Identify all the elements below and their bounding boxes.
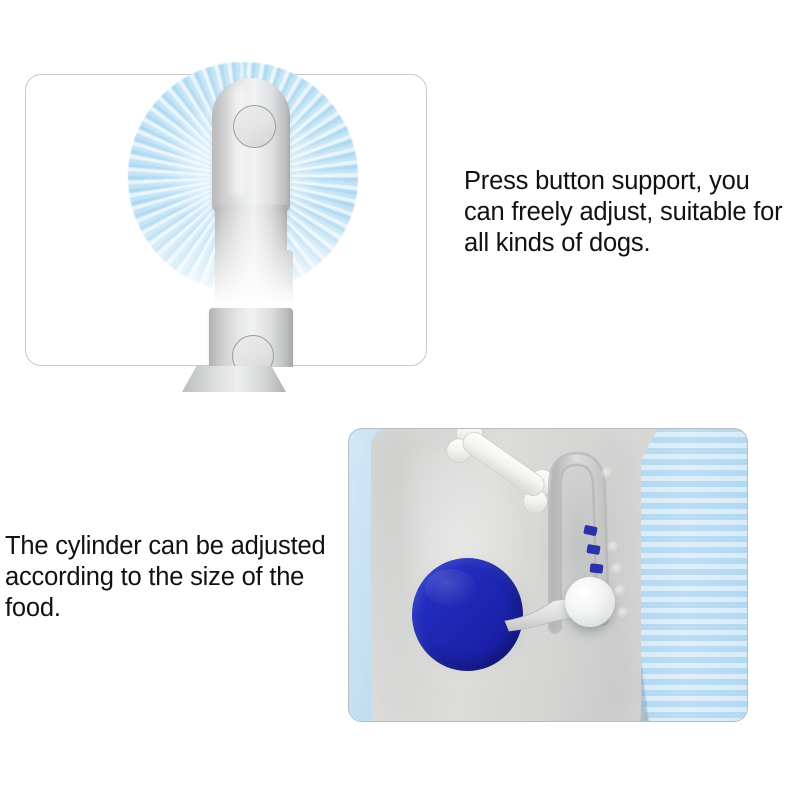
caption-press-button-support: Press button support, you can freely adj… — [464, 166, 794, 259]
housing-dimple — [617, 607, 630, 620]
lever-knob-icon — [565, 577, 615, 627]
support-arm-overflow — [182, 366, 286, 392]
panel-two-image — [348, 428, 748, 722]
housing-dimple — [614, 585, 627, 598]
slot-tick-2 — [586, 544, 600, 555]
slot-tick-3 — [590, 563, 604, 573]
caption-cylinder-adjustable: The cylinder can be adjusted according t… — [5, 531, 345, 624]
panel-one-frame — [25, 74, 427, 366]
housing-dimple — [611, 563, 624, 576]
housing-dimple — [601, 467, 614, 480]
disc-gloss — [425, 569, 477, 607]
housing-dimple — [607, 541, 620, 554]
infographic-page: Press button support, you can freely adj… — [0, 0, 800, 800]
